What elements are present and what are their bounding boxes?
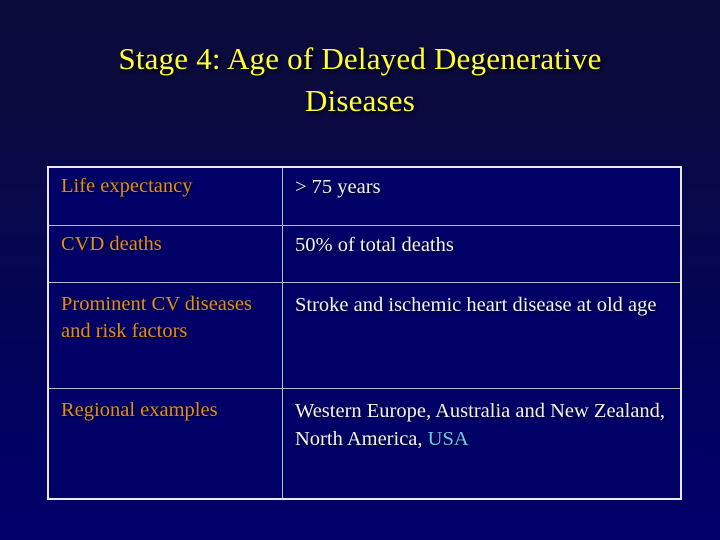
table-cell-value: 50% of total deaths [283, 225, 682, 282]
row-label-life-expectancy: Life expectancy [61, 168, 272, 200]
table-row: Prominent CV diseases and risk factors S… [48, 282, 681, 388]
row-value-life-expectancy: > 75 years [295, 168, 670, 201]
regional-examples-text: Western Europe, Australia and New Zealan… [295, 400, 665, 450]
table-cell-label: Regional examples [48, 389, 283, 499]
table-row: CVD deaths 50% of total deaths [48, 225, 681, 282]
row-label-cvd-deaths: CVD deaths [61, 226, 272, 258]
row-label-prominent-cv-diseases: Prominent CV diseases and risk factors [61, 283, 272, 345]
row-value-regional-examples: Western Europe, Australia and New Zealan… [295, 389, 670, 453]
slide-title: Stage 4: Age of Delayed Degenerative Dis… [50, 38, 670, 122]
table-body: Life expectancy > 75 years CVD deaths 50… [48, 167, 681, 499]
row-value-cvd-deaths: 50% of total deaths [295, 226, 670, 259]
table-cell-label: Prominent CV diseases and risk factors [48, 282, 283, 388]
table-cell-label: Life expectancy [48, 167, 283, 225]
table-row: Regional examples Western Europe, Austra… [48, 389, 681, 499]
table-cell-value: > 75 years [283, 167, 682, 225]
table-cell-value: Stroke and ischemic heart disease at old… [283, 282, 682, 388]
table-row: Life expectancy > 75 years [48, 167, 681, 225]
presentation-slide: Stage 4: Age of Delayed Degenerative Dis… [0, 0, 720, 540]
row-label-regional-examples: Regional examples [61, 389, 272, 424]
content-table: Life expectancy > 75 years CVD deaths 50… [47, 166, 682, 500]
table-cell-label: CVD deaths [48, 225, 283, 282]
table-cell-value: Western Europe, Australia and New Zealan… [283, 389, 682, 499]
regional-examples-highlight-usa: USA [428, 428, 469, 450]
row-value-prominent-cv-diseases: Stroke and ischemic heart disease at old… [295, 283, 670, 319]
